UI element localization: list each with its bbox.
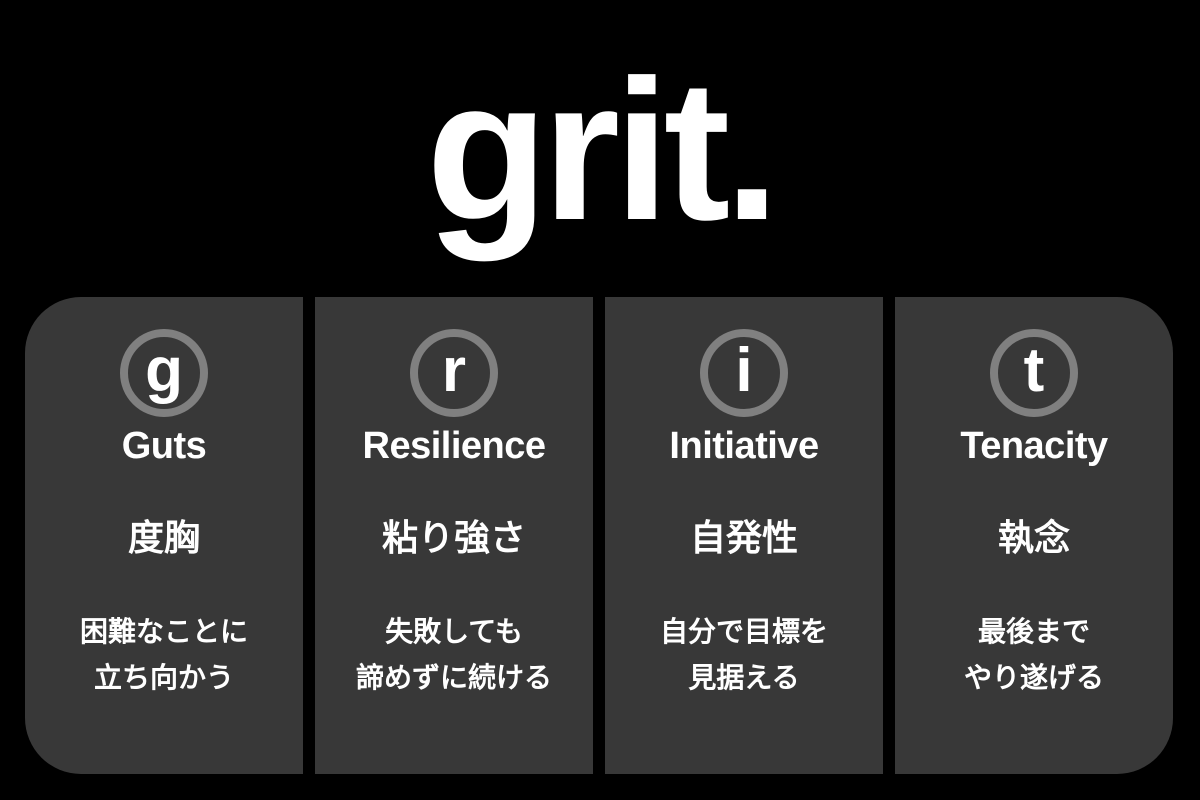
infographic-canvas: grit. g Guts 度胸 困難なことに 立ち向かう r Resilienc… <box>0 0 1200 800</box>
card-japanese-term: 度胸 <box>128 517 200 561</box>
card-japanese-description: 困難なことに 立ち向かう <box>80 609 248 701</box>
badge-letter: t <box>1024 340 1045 402</box>
card-initiative: i Initiative 自発性 自分で目標を 見据える <box>605 297 883 774</box>
badge-letter: g <box>145 340 183 402</box>
badge-circle-t: t <box>990 329 1078 417</box>
logo-block: grit. <box>0 0 1200 290</box>
badge-circle-g: g <box>120 329 208 417</box>
card-guts: g Guts 度胸 困難なことに 立ち向かう <box>25 297 303 774</box>
card-japanese-description: 失敗しても 諦めずに続ける <box>356 609 552 701</box>
grit-card-strip: g Guts 度胸 困難なことに 立ち向かう r Resilience 粘り強さ… <box>25 297 1173 774</box>
card-title: Initiative <box>669 423 818 469</box>
card-japanese-term: 粘り強さ <box>382 517 526 561</box>
badge-letter: i <box>735 340 752 402</box>
brand-logo-grit: grit. <box>426 51 774 251</box>
card-tenacity: t Tenacity 執念 最後まで やり遂げる <box>895 297 1173 774</box>
card-title: Guts <box>122 423 207 469</box>
card-title: Tenacity <box>960 423 1107 469</box>
card-resilience: r Resilience 粘り強さ 失敗しても 諦めずに続ける <box>315 297 593 774</box>
card-title: Resilience <box>363 423 546 469</box>
badge-letter: r <box>442 340 466 402</box>
badge-circle-i: i <box>700 329 788 417</box>
card-japanese-term: 自発性 <box>690 517 798 561</box>
card-japanese-description: 最後まで やり遂げる <box>964 609 1104 701</box>
card-japanese-term: 執念 <box>998 517 1070 561</box>
card-japanese-description: 自分で目標を 見据える <box>660 609 828 701</box>
badge-circle-r: r <box>410 329 498 417</box>
